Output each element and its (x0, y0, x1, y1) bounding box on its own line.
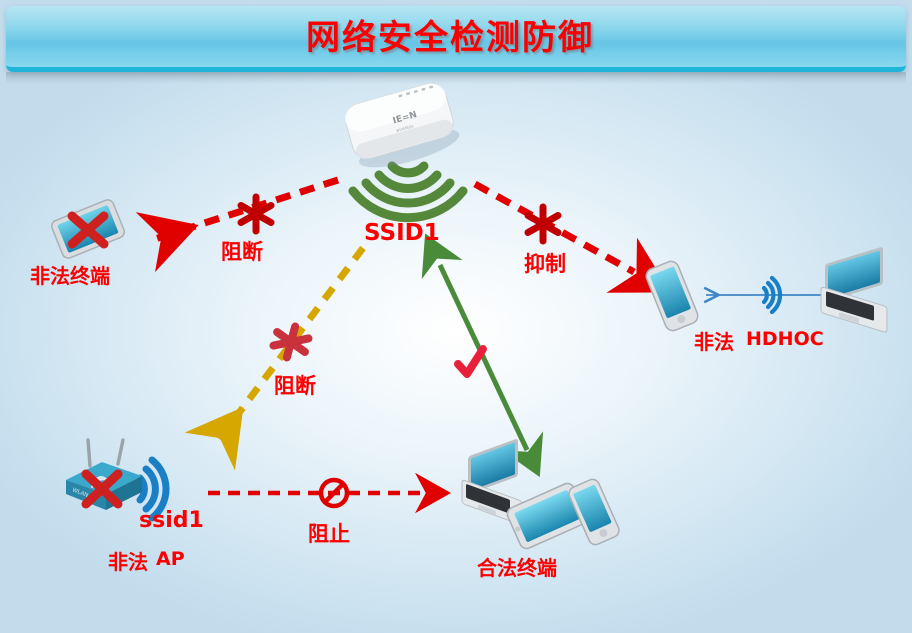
rogue-adhoc-label-en: HDHOC (746, 328, 824, 350)
block-asterisk-icon-left (241, 197, 271, 231)
block-asterisk-icon-right (528, 207, 558, 241)
svg-text:wireless: wireless (395, 123, 415, 134)
ap-ssid-label: SSID1 (364, 220, 440, 246)
access-point-device-icon: IE=N wireless (342, 79, 463, 176)
rogue-adhoc-phone-icon (644, 259, 700, 333)
link-label-block-rogue-ap: 阻断 (274, 370, 316, 400)
connector-block-rogue-terminal (152, 180, 338, 240)
ap-wifi-waves-icon (353, 166, 463, 218)
rogue-ap-device-icon: WLAN (66, 440, 142, 510)
connector-block-rogue-ap (214, 248, 363, 446)
slide-canvas: 网络安全检测防御 (0, 0, 912, 633)
legal-terminals-icons (462, 438, 621, 550)
block-asterisk-icon-lower-left (271, 322, 310, 361)
svg-text:IE=N: IE=N (392, 110, 418, 126)
link-label-block-rogue-terminal: 阻断 (221, 236, 263, 266)
banner-drop-shadow (6, 72, 906, 84)
svg-text:WLAN: WLAN (71, 487, 89, 499)
rogue-terminal-label: 非法终端 (30, 260, 110, 289)
connector-layer: IE=N wireless (0, 0, 912, 633)
page-title: 网络安全检测防御 (0, 10, 900, 59)
no-entry-icon (321, 480, 347, 506)
connector-allow-legal-terminals (440, 265, 527, 450)
rogue-ap-label-en: AP (156, 548, 185, 570)
link-label-suppress-rogue-adhoc: 抑制 (524, 248, 566, 278)
rogue-terminal-device-icon (50, 198, 126, 260)
link-label-prevent-rogue-ap-to-legal: 阻止 (308, 518, 350, 548)
adhoc-wifi-waves-icon (764, 278, 780, 312)
rogue-ap-label-cn: 非法 (108, 546, 148, 575)
rogue-adhoc-laptop-icon (821, 246, 887, 332)
rogue-ap-ssid-label: ssid1 (139, 508, 204, 533)
legal-terminals-label: 合法终端 (477, 552, 557, 581)
rogue-adhoc-label-cn: 非法 (694, 326, 734, 355)
allow-check-icon (458, 349, 483, 374)
